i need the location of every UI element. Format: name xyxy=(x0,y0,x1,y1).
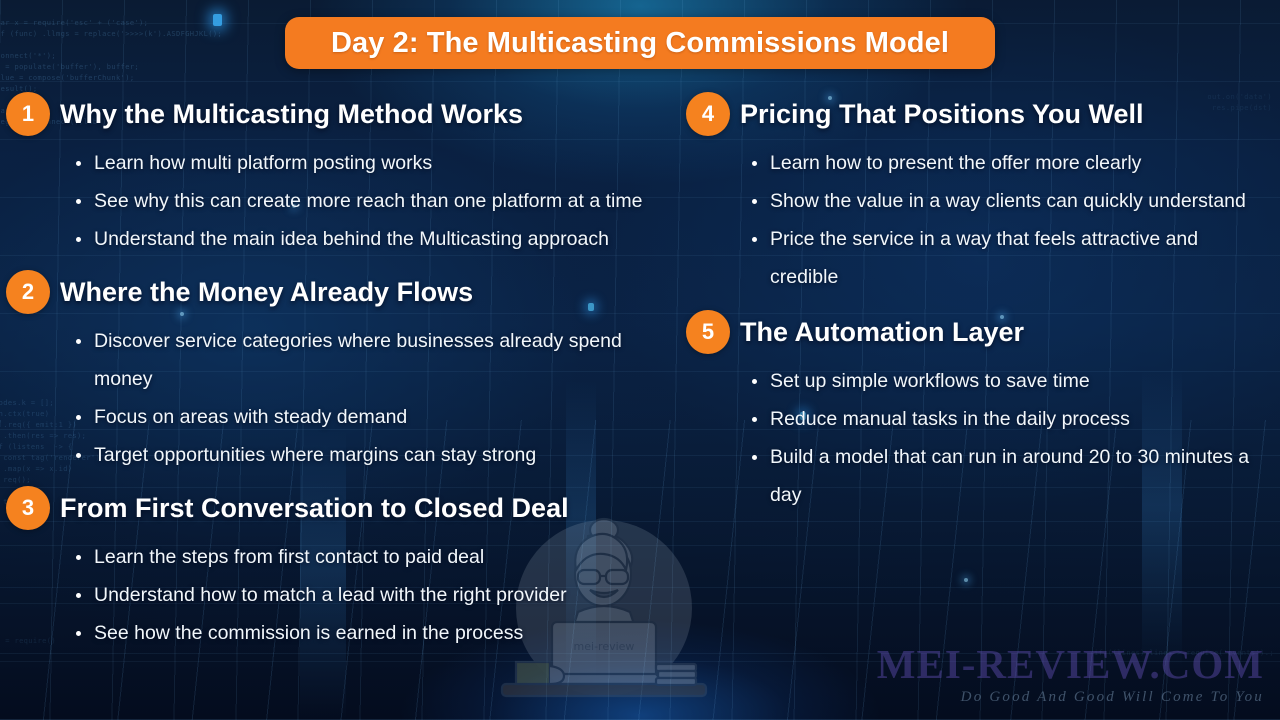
bullet-list: Set up simple workflows to save timeRedu… xyxy=(748,362,1268,514)
bullet-item: Price the service in a way that feels at… xyxy=(748,220,1268,296)
section-number-badge: 5 xyxy=(686,310,730,354)
slide-title-banner: Day 2: The Multicasting Commissions Mode… xyxy=(285,17,995,69)
section-header: 3From First Conversation to Closed Deal xyxy=(6,486,682,530)
left-column: 1Why the Multicasting Method WorksLearn … xyxy=(6,92,682,652)
bullet-item: Understand how to match a lead with the … xyxy=(72,576,682,614)
section-number-badge: 4 xyxy=(686,92,730,136)
section-5: 5The Automation LayerSet up simple workf… xyxy=(686,310,1276,514)
bullet-item: Focus on areas with steady demand xyxy=(72,398,682,436)
section-header: 1Why the Multicasting Method Works xyxy=(6,92,682,136)
section-number-badge: 1 xyxy=(6,92,50,136)
section-heading: Pricing That Positions You Well xyxy=(740,99,1144,130)
section-heading: Why the Multicasting Method Works xyxy=(60,99,523,130)
section-2: 2Where the Money Already FlowsDiscover s… xyxy=(6,270,682,474)
watermark-site: MEI-REVIEW.COM xyxy=(877,644,1264,685)
bullet-item: Learn the steps from first contact to pa… xyxy=(72,538,682,576)
background-code-text: if ((lines) lines > require('events').; xyxy=(1094,648,1274,659)
bullet-item: Set up simple workflows to save time xyxy=(748,362,1268,400)
bullet-item: Learn how to present the offer more clea… xyxy=(748,144,1268,182)
bullet-list: Discover service categories where busine… xyxy=(72,322,682,474)
section-number-badge: 2 xyxy=(6,270,50,314)
section-header: 2Where the Money Already Flows xyxy=(6,270,682,314)
bullet-item: Understand the main idea behind the Mult… xyxy=(72,220,682,258)
section-header: 5The Automation Layer xyxy=(686,310,1276,354)
bullet-item: See why this can create more reach than … xyxy=(72,182,682,220)
bullet-list: Learn the steps from first contact to pa… xyxy=(72,538,682,652)
right-column: 4Pricing That Positions You WellLearn ho… xyxy=(686,92,1276,514)
bullet-item: Show the value in a way clients can quic… xyxy=(748,182,1268,220)
bullet-item: Reduce manual tasks in the daily process xyxy=(748,400,1268,438)
section-1: 1Why the Multicasting Method WorksLearn … xyxy=(6,92,682,258)
page-title: Day 2: The Multicasting Commissions Mode… xyxy=(331,27,949,60)
bullet-item: See how the commission is earned in the … xyxy=(72,614,682,652)
section-heading: Where the Money Already Flows xyxy=(60,277,473,308)
section-number-badge: 3 xyxy=(6,486,50,530)
bullet-item: Discover service categories where busine… xyxy=(72,322,682,398)
bullet-list: Learn how multi platform posting worksSe… xyxy=(72,144,682,258)
section-header: 4Pricing That Positions You Well xyxy=(686,92,1276,136)
bullet-item: Learn how multi platform posting works xyxy=(72,144,682,182)
bullet-item: Build a model that can run in around 20 … xyxy=(748,438,1268,514)
glow-particle xyxy=(213,14,222,26)
watermark: MEI-REVIEW.COM Do Good And Good Will Com… xyxy=(877,644,1264,706)
watermark-tagline: Do Good And Good Will Come To You xyxy=(877,689,1264,706)
section-heading: From First Conversation to Closed Deal xyxy=(60,493,569,524)
bullet-item: Target opportunities where margins can s… xyxy=(72,436,682,474)
section-heading: The Automation Layer xyxy=(740,317,1024,348)
section-4: 4Pricing That Positions You WellLearn ho… xyxy=(686,92,1276,296)
slide-canvas: var x = require('esc' + ('case'); if (fu… xyxy=(0,0,1280,720)
glow-particle xyxy=(964,578,968,582)
section-3: 3From First Conversation to Closed DealL… xyxy=(6,486,682,652)
bullet-list: Learn how to present the offer more clea… xyxy=(748,144,1268,296)
